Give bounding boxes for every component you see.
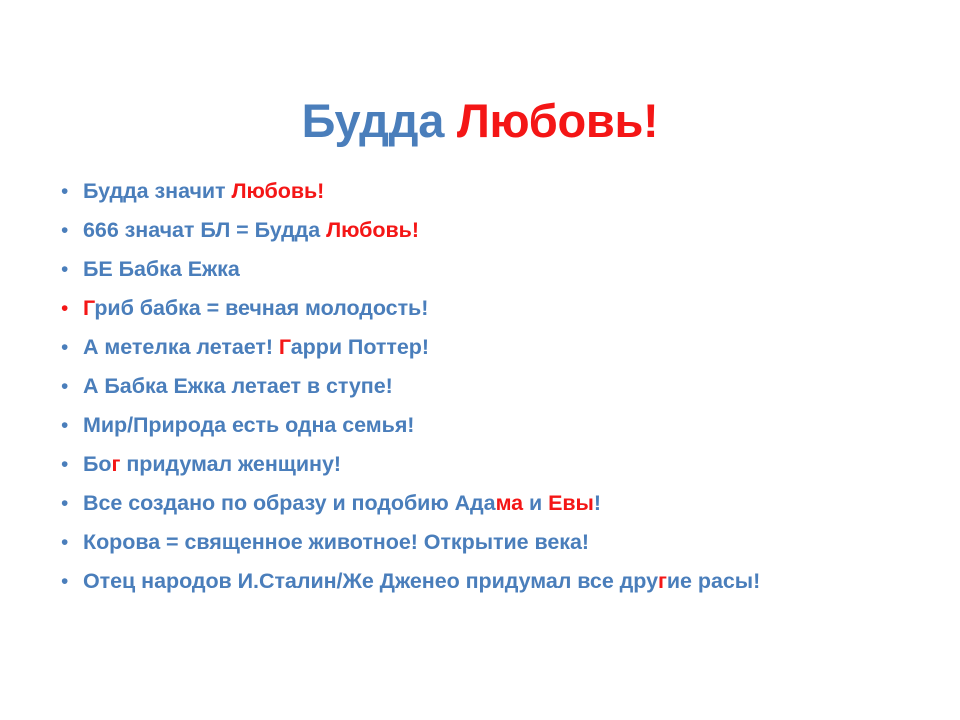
bullet-point-icon: • [56, 172, 83, 211]
bullet-text-segment: Евы [548, 491, 594, 515]
slide-canvas: Будда Любовь! •Будда значит Любовь!•666 … [0, 0, 960, 720]
bullet-text-segment: арри Поттер! [291, 335, 429, 359]
bullet-item-text: А метелка летает! Гарри Поттер! [83, 328, 936, 367]
bullet-text-segment: Будда значит [83, 179, 231, 203]
bullet-point-icon: • [56, 484, 83, 523]
bullet-text-segment: Все создано по образу и подобию Ада [83, 491, 496, 515]
slide-title-segment: Будда [302, 94, 457, 147]
bullet-text-segment: Любовь! [231, 179, 324, 203]
bullet-text-segment: 666 значат БЛ = Будда [83, 218, 326, 242]
bullet-list-item: •Гриб бабка = вечная молодость! [56, 289, 936, 328]
bullet-item-text: Мир/Природа есть одна семья! [83, 406, 936, 445]
bullet-item-text: Бог придумал женщину! [83, 445, 936, 484]
bullet-item-text: Отец народов И.Сталин/Же Дженео придумал… [83, 562, 936, 601]
bullet-text-segment: А метелка летает! [83, 335, 279, 359]
bullet-point-icon: • [56, 562, 83, 601]
slide-title-segment: Любовь! [457, 94, 659, 147]
bullet-text-segment: Бо [83, 452, 112, 476]
bullet-text-segment: БЕ Бабка Ежка [83, 257, 240, 281]
bullet-point-icon: • [56, 445, 83, 484]
bullet-text-segment: Г [279, 335, 291, 359]
bullet-item-text: 666 значат БЛ = Будда Любовь! [83, 211, 936, 250]
bullet-text-segment: Любовь! [326, 218, 419, 242]
bullet-item-text: Будда значит Любовь! [83, 172, 936, 211]
bullet-text-segment: А Бабка Ежка летает в ступе! [83, 374, 393, 398]
bullet-point-icon: • [56, 250, 83, 289]
bullet-list: •Будда значит Любовь!•666 значат БЛ = Бу… [56, 172, 936, 601]
bullet-point-icon: • [56, 523, 83, 562]
bullet-text-segment: ! [594, 491, 601, 515]
bullet-list-item: •Мир/Природа есть одна семья! [56, 406, 936, 445]
bullet-list-item: •Все создано по образу и подобию Адама и… [56, 484, 936, 523]
bullet-point-icon: • [56, 406, 83, 445]
bullet-list-item: •Корова = священное животное! Открытие в… [56, 523, 936, 562]
slide-title: Будда Любовь! [0, 93, 960, 149]
bullet-text-segment: г [658, 569, 667, 593]
bullet-item-text: Все создано по образу и подобию Адама и … [83, 484, 936, 523]
bullet-text-segment: Мир/Природа есть одна семья! [83, 413, 414, 437]
bullet-text-segment: Корова = священное животное! Открытие ве… [83, 530, 589, 554]
bullet-point-icon: • [56, 211, 83, 250]
bullet-point-icon: • [56, 289, 83, 328]
bullet-list-item: •А метелка летает! Гарри Поттер! [56, 328, 936, 367]
bullet-text-segment: ие расы! [667, 569, 760, 593]
bullet-item-text: Корова = священное животное! Открытие ве… [83, 523, 936, 562]
bullet-list-item: •Бог придумал женщину! [56, 445, 936, 484]
bullet-item-text: Гриб бабка = вечная молодость! [83, 289, 936, 328]
bullet-item-text: БЕ Бабка Ежка [83, 250, 936, 289]
bullet-list-item: •Будда значит Любовь! [56, 172, 936, 211]
bullet-text-segment: Отец народов И.Сталин/Же Дженео придумал… [83, 569, 658, 593]
bullet-text-segment: ма [496, 491, 523, 515]
bullet-text-segment: и [523, 491, 548, 515]
bullet-text-segment: придумал женщину! [120, 452, 341, 476]
bullet-list-item: •Отец народов И.Сталин/Же Дженео придума… [56, 562, 936, 601]
bullet-list-item: •666 значат БЛ = Будда Любовь! [56, 211, 936, 250]
bullet-point-icon: • [56, 367, 83, 406]
bullet-text-segment: Г [83, 296, 94, 320]
bullet-point-icon: • [56, 328, 83, 367]
bullet-list-item: •БЕ Бабка Ежка [56, 250, 936, 289]
bullet-list-item: •А Бабка Ежка летает в ступе! [56, 367, 936, 406]
bullet-text-segment: риб бабка = вечная молодость! [94, 296, 428, 320]
bullet-item-text: А Бабка Ежка летает в ступе! [83, 367, 936, 406]
